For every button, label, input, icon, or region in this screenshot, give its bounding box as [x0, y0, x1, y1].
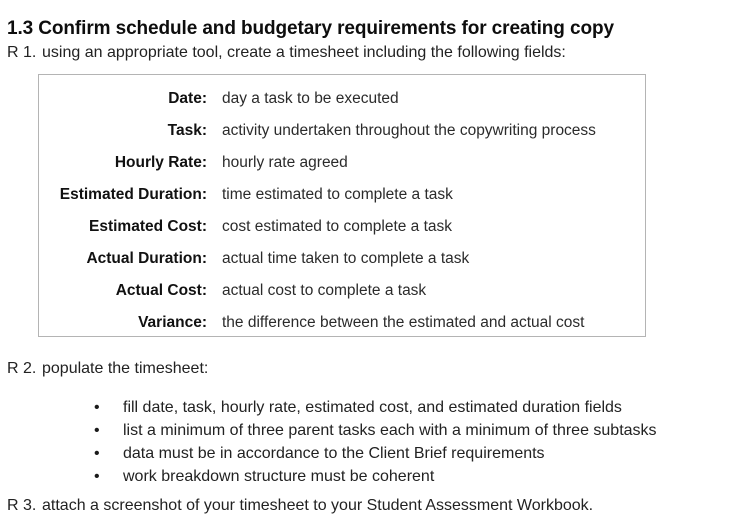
field-label-date: Date:	[39, 83, 207, 115]
field-value-actual-cost: actual cost to complete a task	[207, 275, 645, 307]
requirement-3: R 3. attach a screenshot of your timeshe…	[7, 497, 593, 515]
list-item: • data must be in accordance to the Clie…	[0, 442, 749, 465]
requirement-3-text: attach a screenshot of your timesheet to…	[42, 497, 593, 515]
field-label-task: Task:	[39, 115, 207, 147]
field-value-variance: the difference between the estimated and…	[207, 307, 645, 339]
table-row: Estimated Cost: cost estimated to comple…	[39, 211, 645, 243]
table-row: Estimated Duration: time estimated to co…	[39, 179, 645, 211]
table-row: Variance: the difference between the est…	[39, 307, 645, 339]
field-value-date: day a task to be executed	[207, 83, 645, 115]
field-label-estimated-duration: Estimated Duration:	[39, 179, 207, 211]
table-row: Task: activity undertaken throughout the…	[39, 115, 645, 147]
page-title: 1.3 Confirm schedule and budgetary requi…	[7, 18, 614, 40]
field-value-estimated-cost: cost estimated to complete a task	[207, 211, 645, 243]
field-label-estimated-cost: Estimated Cost:	[39, 211, 207, 243]
requirement-2-text: populate the timesheet:	[42, 360, 208, 378]
list-item-text: data must be in accordance to the Client…	[123, 442, 545, 465]
bullet-icon: •	[94, 396, 100, 419]
requirement-3-number: R 3.	[7, 497, 42, 515]
requirement-2-bullet-list: • fill date, task, hourly rate, estimate…	[0, 396, 749, 488]
field-value-hourly-rate: hourly rate agreed	[207, 147, 645, 179]
requirement-2-number: R 2.	[7, 360, 42, 378]
field-definition-table: Date: day a task to be executed Task: ac…	[39, 83, 645, 339]
table-row: Date: day a task to be executed	[39, 83, 645, 115]
list-item: • work breakdown structure must be coher…	[0, 465, 749, 488]
field-label-actual-cost: Actual Cost:	[39, 275, 207, 307]
table-row: Actual Cost: actual cost to complete a t…	[39, 275, 645, 307]
list-item: • list a minimum of three parent tasks e…	[0, 419, 749, 442]
bullet-icon: •	[94, 442, 100, 465]
list-item: • fill date, task, hourly rate, estimate…	[0, 396, 749, 419]
list-item-text: work breakdown structure must be coheren…	[123, 465, 434, 488]
field-value-actual-duration: actual time taken to complete a task	[207, 243, 645, 275]
list-item-text: fill date, task, hourly rate, estimated …	[123, 396, 622, 419]
bullet-icon: •	[94, 465, 100, 488]
field-label-actual-duration: Actual Duration:	[39, 243, 207, 275]
requirement-1-number: R 1.	[7, 44, 42, 62]
bullet-icon: •	[94, 419, 100, 442]
requirement-1-text: using an appropriate tool, create a time…	[42, 44, 566, 62]
field-value-task: activity undertaken throughout the copyw…	[207, 115, 645, 147]
field-label-variance: Variance:	[39, 307, 207, 339]
requirement-2: R 2. populate the timesheet:	[7, 360, 208, 378]
document-page: 1.3 Confirm schedule and budgetary requi…	[0, 0, 749, 531]
field-label-hourly-rate: Hourly Rate:	[39, 147, 207, 179]
table-row: Hourly Rate: hourly rate agreed	[39, 147, 645, 179]
table-row: Actual Duration: actual time taken to co…	[39, 243, 645, 275]
field-value-estimated-duration: time estimated to complete a task	[207, 179, 645, 211]
requirement-1: R 1. using an appropriate tool, create a…	[7, 44, 566, 62]
timesheet-fields-table: Date: day a task to be executed Task: ac…	[38, 74, 646, 337]
list-item-text: list a minimum of three parent tasks eac…	[123, 419, 657, 442]
